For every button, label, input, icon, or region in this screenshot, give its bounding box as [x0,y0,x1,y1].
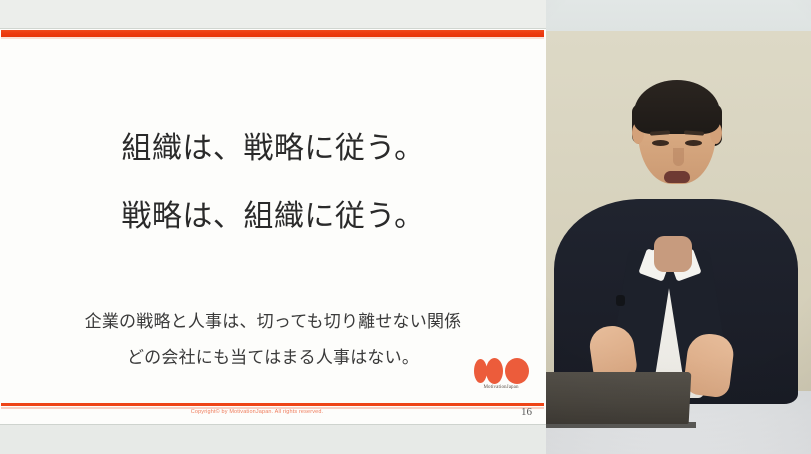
headline-line-2: 戦略は、組織に従う。 [0,202,546,232]
video-wall-upper [546,0,811,31]
logo-wordmark: MotivationJapan [468,385,534,390]
screen-recording-frame: 組織は、戦略に従う。 戦略は、組織に従う。 企業の戦略と人事は、切っても切り離せ… [0,0,811,454]
subline-line-2: どの会社にも当てはまる人事はない。 [0,350,546,367]
slide-top-accent-bar [1,30,544,37]
subline-line-1: 企業の戦略と人事は、切っても切り離せない関係 [0,314,546,331]
presenter-nose [673,148,684,166]
copyright-text: Copyright© by MotivationJapan. All right… [0,409,530,415]
presenter-neck [654,236,692,272]
headline-block: 組織は、戦略に従う。 戦略は、組織に従う。 [0,134,546,232]
subline-block: 企業の戦略と人事は、切っても切り離せない関係 どの会社にも当てはまる人事はない。 [0,314,546,367]
presenter-mouth [664,171,690,183]
slide-pane: 組織は、戦略に従う。 戦略は、組織に従う。 企業の戦略と人事は、切っても切り離せ… [0,0,546,454]
presenter-video-pane[interactable] [546,0,811,454]
slide-footer: Copyright© by MotivationJapan. All right… [0,407,546,423]
laptop-screen [546,372,691,424]
slide-footer-accent-bar [1,403,544,406]
page-number: 16 [521,406,532,418]
presentation-slide: 組織は、戦略に従う。 戦略は、組織に従う。 企業の戦略と人事は、切っても切り離せ… [0,29,546,424]
headline-line-1: 組織は、戦略に従う。 [0,134,546,164]
logo-blob-2 [486,358,503,384]
lapel-microphone-icon [616,295,625,306]
slide-content: 組織は、戦略に従う。 戦略は、組織に従う。 企業の戦略と人事は、切っても切り離せ… [0,39,546,402]
presenter-eye-right [685,140,702,146]
logo-blob-3 [505,358,529,384]
motivation-japan-logo: MotivationJapan [468,358,534,398]
presenter-eye-left [652,140,669,146]
logo-mark-icon [472,358,530,384]
